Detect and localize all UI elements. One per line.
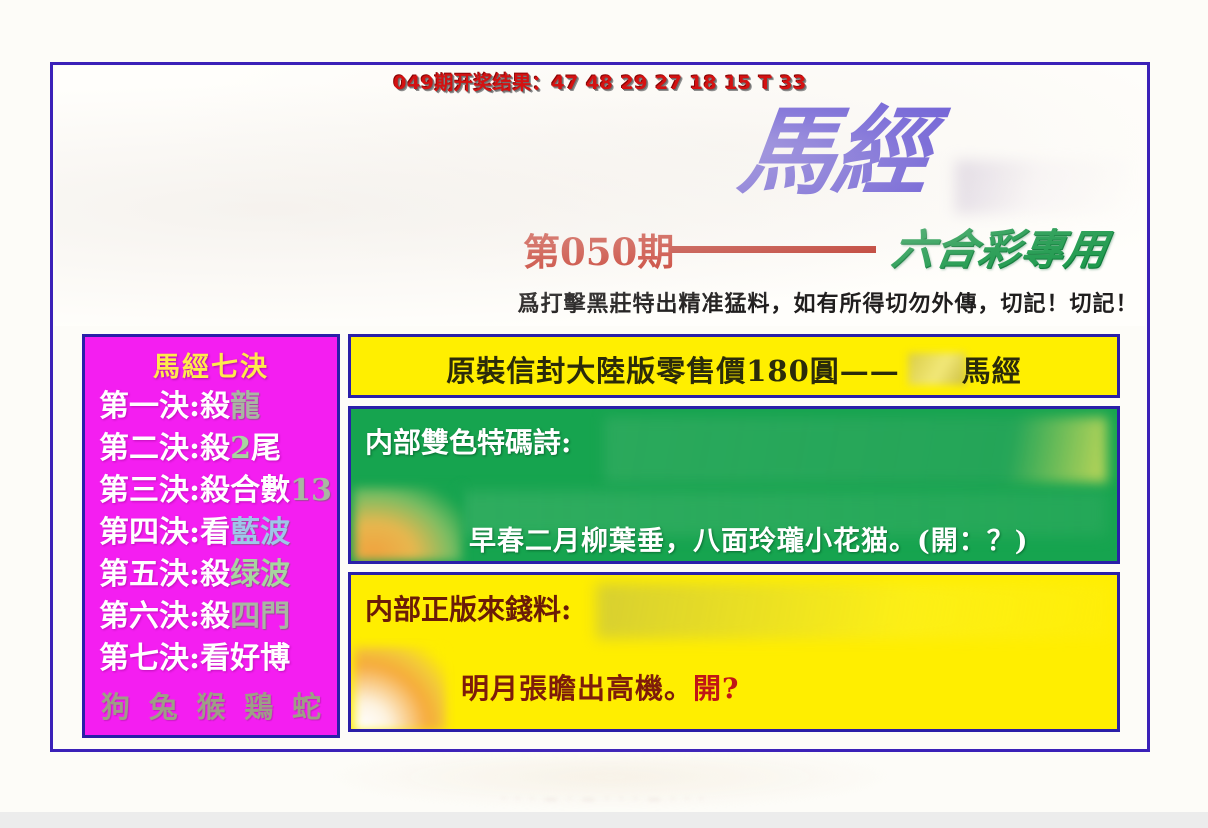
decision-label-7: 第七決:看好博 (99, 641, 290, 676)
issue-number: 第050期 (523, 222, 674, 276)
animal-item: 鶏 (244, 684, 273, 726)
money-text: 明月張瞻出高機。開? (461, 667, 739, 707)
panel-stack: 原裝信封大陸版零售價180圓——馬經 内部雙色特碼詩: 早春二月柳葉垂，八面玲瓏… (348, 334, 1120, 738)
decision-row-2: 第二決:殺2尾 (85, 429, 337, 468)
issue-row: 第050期 六合彩專用 (503, 220, 1143, 282)
gradient-corner-poem (354, 487, 462, 561)
animal-item: 猴 (196, 684, 225, 726)
decision-row-3: 第三決:殺合數13 (85, 471, 337, 510)
animal-item: 兔 (149, 684, 178, 726)
animal-item: 蛇 (292, 684, 321, 726)
animal-list: 狗 兔 猴 鶏 蛇 (85, 684, 337, 726)
decision-row-7: 第七決:看好博 (85, 639, 337, 678)
decision-row-5: 第五決:殺绿波 (85, 555, 337, 594)
decision-label-1: 第一決:殺 (99, 389, 230, 424)
money-open-marker: 開? (693, 672, 739, 705)
draw-result-line: 049期开奖结果：47 48 29 27 18 15 T 33 (55, 68, 1145, 95)
masthead-region: 049期开奖结果：47 48 29 27 18 15 T 33 馬經 第050期… (55, 66, 1145, 326)
decision-highlight-1: 龍 (230, 389, 260, 424)
decision-highlight-2: 2 (230, 431, 251, 466)
decision-row-1: 第一決:殺龍 (85, 387, 337, 426)
gradient-corner-money (354, 647, 446, 731)
money-label: 内部正版來錢料: (365, 588, 571, 628)
poem-text: 早春二月柳葉垂，八面玲瓏小花猫。(開：？) (469, 519, 1029, 558)
page-sheet: 049期开奖结果：47 48 29 27 18 15 T 33 馬經 第050期… (0, 0, 1208, 812)
decision-label-4: 第四決:看 (99, 515, 230, 550)
sidebar-title: 馬經七決 (85, 345, 337, 384)
money-panel: 内部正版來錢料: 明月張瞻出高機。開? (348, 572, 1120, 732)
censored-blur-bar-money (596, 583, 1112, 639)
decision-highlight-6: 四門 (230, 599, 290, 634)
price-text-main: 原裝信封大陸版零售價180圓—— (446, 354, 900, 388)
decision-highlight-4: 藍波 (230, 515, 290, 550)
decision-highlight-5: 绿波 (230, 557, 290, 592)
price-banner-panel: 原裝信封大陸版零售價180圓——馬經 (348, 334, 1120, 398)
decision-label-6: 第六決:殺 (99, 599, 230, 634)
seven-decisions-sidebar: 馬經七決 第一決:殺龍 第二決:殺2尾 第三決:殺合數13 第四決:看藍波 第五… (82, 334, 340, 738)
lottery-purpose-label: 六合彩專用 (888, 216, 1113, 277)
decision-label-3: 第三決:殺合數 (99, 473, 290, 508)
censored-blur-patch (955, 160, 1130, 214)
censored-blur-bar-poem (604, 417, 1107, 483)
price-brand: 馬經 (962, 354, 1022, 388)
decision-row-4: 第四決:看藍波 (85, 513, 337, 552)
decision-label-5: 第五決:殺 (99, 557, 230, 592)
price-banner-text: 原裝信封大陸版零售價180圓——馬經 (351, 348, 1117, 390)
footer-faint-text: · · · — · — · · · — · · · (0, 792, 1208, 807)
content-row: 馬經七決 第一決:殺龍 第二決:殺2尾 第三決:殺合數13 第四決:看藍波 第五… (82, 334, 1120, 738)
decision-suffix-2: 尾 (251, 431, 281, 466)
tagline: 爲打擊黑莊特出精准猛料，如有所得切勿外傳，切記！切記！ (503, 286, 1145, 318)
issue-divider-rule (671, 246, 876, 253)
decision-label-2: 第二決:殺 (99, 431, 230, 466)
publication-logo: 馬經 (734, 100, 935, 204)
poem-label: 内部雙色特碼詩: (365, 421, 571, 461)
poem-panel: 内部雙色特碼詩: 早春二月柳葉垂，八面玲瓏小花猫。(開：？) (348, 406, 1120, 564)
decision-highlight-3: 13 (290, 473, 332, 508)
animal-item: 狗 (101, 684, 130, 726)
money-text-main: 明月張瞻出高機。 (461, 672, 693, 705)
decision-row-6: 第六決:殺四門 (85, 597, 337, 636)
masthead: 馬經 第050期 六合彩專用 爲打擊黑莊特出精准猛料，如有所得切勿外傳，切記！切… (485, 100, 1145, 326)
